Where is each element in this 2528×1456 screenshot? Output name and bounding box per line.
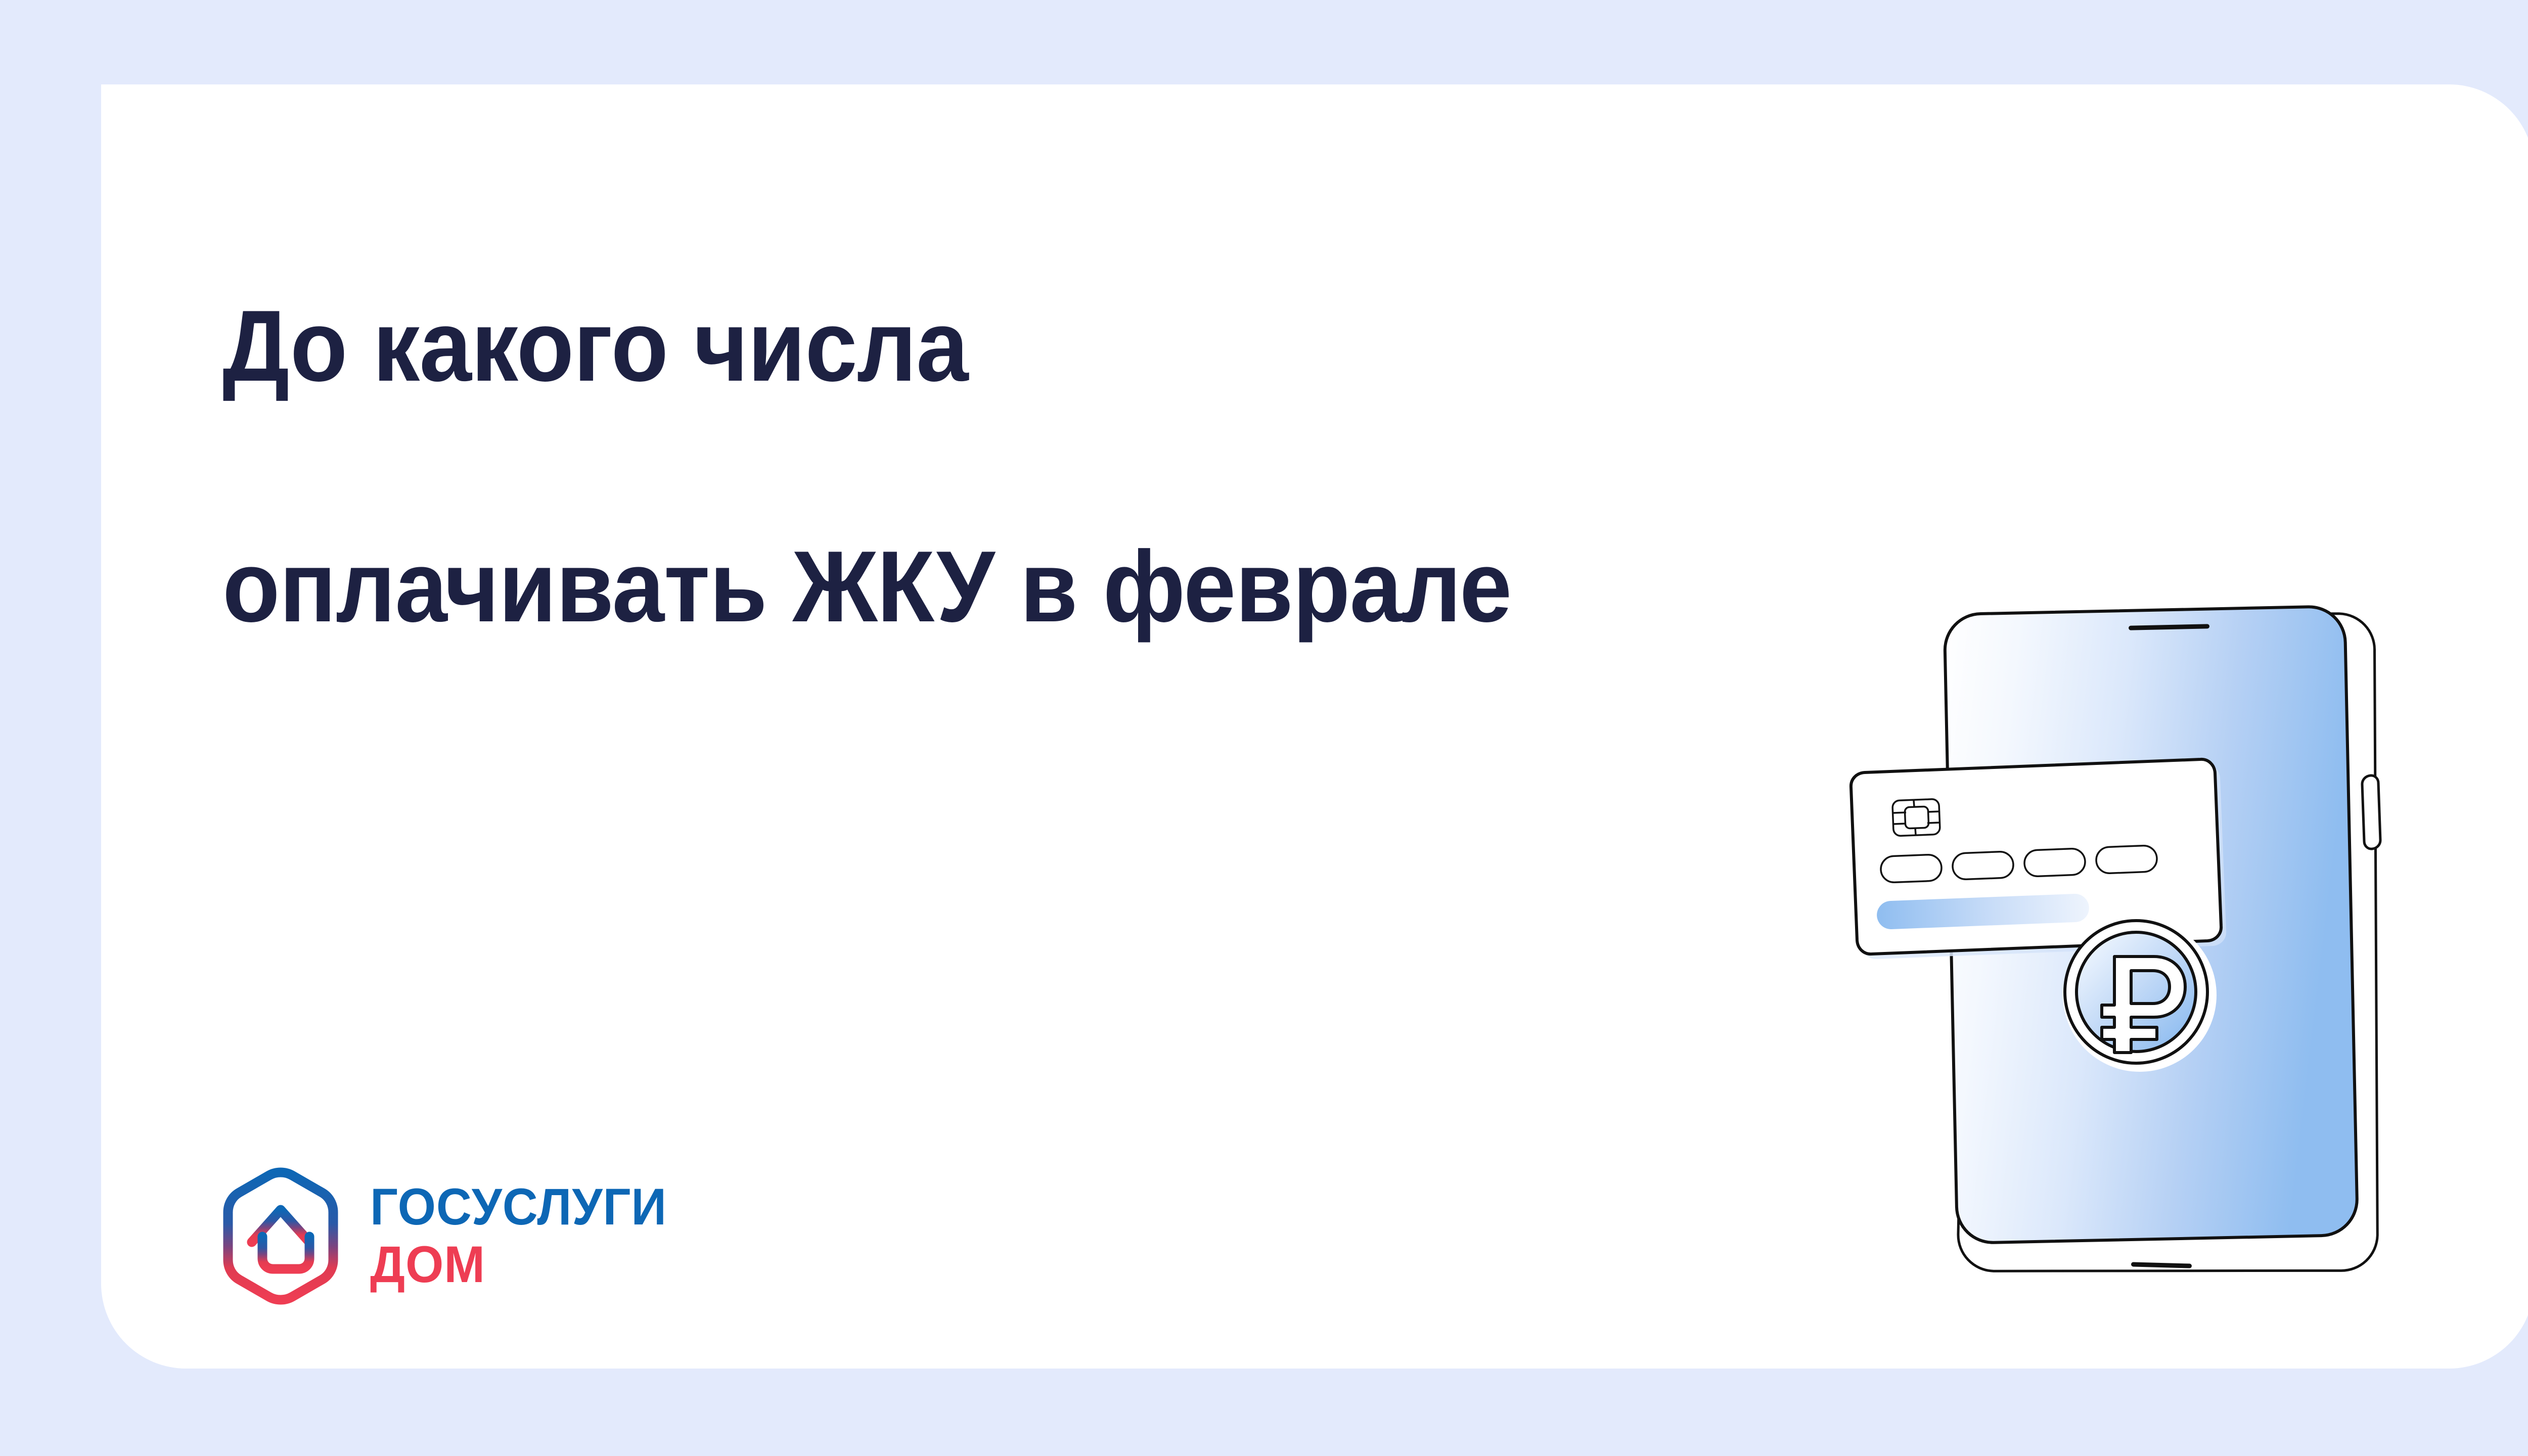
phone-side-button bbox=[2362, 776, 2380, 849]
page-title: До какого числа оплачивать ЖКУ в феврале bbox=[222, 166, 1915, 767]
headline-line-1: До какого числа bbox=[222, 286, 1915, 406]
payment-illustration bbox=[1800, 571, 2477, 1390]
brand-logo[interactable]: ГОСУСЛУГИ ДОМ bbox=[217, 1160, 723, 1312]
ruble-coin bbox=[2063, 918, 2217, 1072]
house-hexagon-icon bbox=[217, 1165, 344, 1307]
headline-line-2: оплачивать ЖКУ в феврале bbox=[222, 527, 1915, 647]
logo-word-dom: ДОМ bbox=[370, 1240, 667, 1290]
poster-canvas: До какого числа оплачивать ЖКУ в феврале bbox=[0, 0, 2528, 1456]
logo-wordmark: ГОСУСЛУГИ ДОМ bbox=[370, 1182, 683, 1290]
logo-word-gosuslugi: ГОСУСЛУГИ bbox=[370, 1182, 667, 1233]
